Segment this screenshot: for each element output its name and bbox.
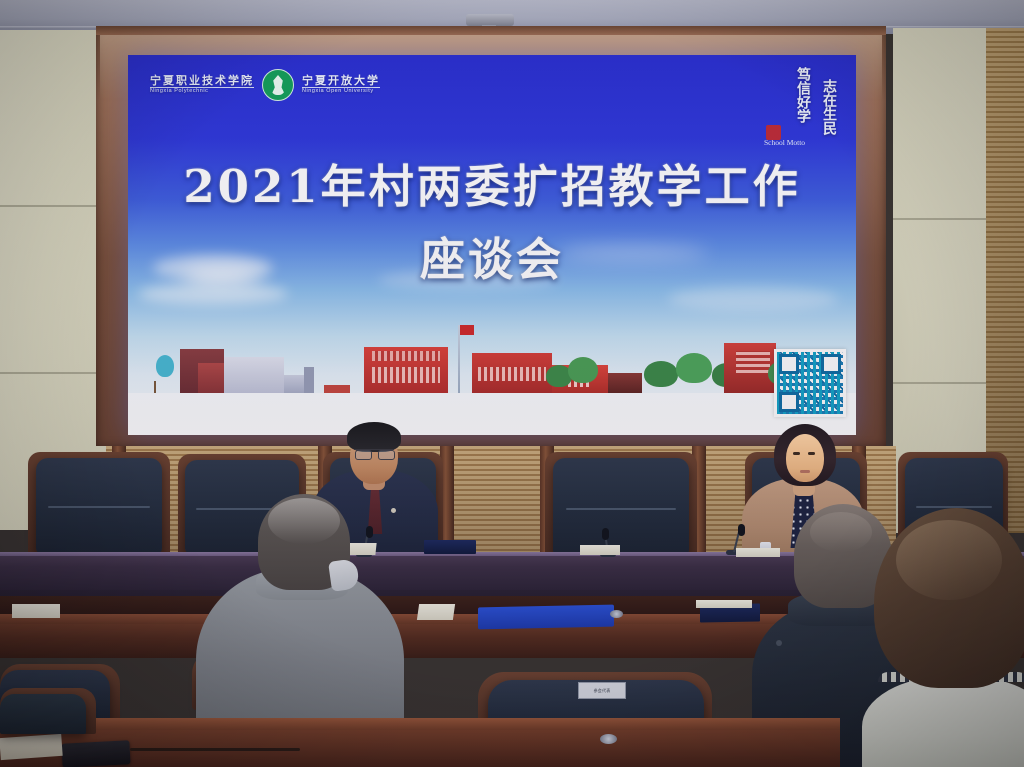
document-paper[interactable]: [12, 604, 60, 618]
table-mic-socket: [610, 610, 623, 618]
jacket-button: [776, 640, 782, 646]
chair-foreground-left[interactable]: [0, 694, 86, 734]
tower: [304, 367, 314, 393]
slide-title-line-1: 2021年村两委扩招教学工作: [128, 150, 856, 215]
attendee-left-hair-highlight: [268, 498, 340, 544]
document-paper[interactable]: [696, 600, 752, 608]
chair-nameplate-text: 参会代表: [594, 688, 611, 694]
eye-right: [808, 452, 815, 455]
logo-polytechnic-en: Ningxia Polytechnic: [150, 87, 254, 95]
projection-screen[interactable]: 宁夏职业技术学院 Ningxia Polytechnic 宁夏开放大学 Ning…: [128, 55, 856, 435]
notebook[interactable]: [424, 540, 476, 554]
mobile-phone[interactable]: [61, 740, 130, 767]
chair-seam: [566, 508, 676, 510]
microphone-head-icon: [366, 526, 373, 538]
microphone-head-icon: [738, 524, 745, 536]
slide-logo-group: 宁夏职业技术学院 Ningxia Polytechnic 宁夏开放大学 Ning…: [150, 69, 380, 101]
building-white: [224, 357, 284, 393]
tree: [644, 361, 678, 387]
document-paper[interactable]: [417, 604, 455, 620]
flagpole: [458, 325, 460, 393]
building-windows: [372, 351, 440, 361]
screen-frame-top-band: [96, 26, 886, 35]
national-flag: [460, 325, 474, 335]
illustration-ground: [128, 393, 856, 435]
building-windows: [736, 351, 770, 373]
eyeglasses-lens-right: [378, 450, 395, 460]
chair-seam: [48, 506, 150, 508]
qr-finder-icon: [821, 354, 841, 374]
wall-panel-seam: [893, 218, 990, 220]
building-windows: [478, 367, 546, 381]
motto-column-right: 笃信好学: [794, 67, 810, 123]
building-low-red: [324, 385, 350, 393]
campus-illustration: [128, 315, 856, 435]
logo-openuniv-en: Ningxia Open University: [302, 87, 380, 95]
logo-polytechnic-cn: 宁夏职业技术学院: [150, 75, 254, 87]
speaker-right-face: [786, 434, 824, 482]
tree: [676, 353, 712, 383]
logo-openuniv-cn: 宁夏开放大学: [302, 75, 380, 87]
microphone-head-icon: [602, 528, 609, 540]
tree: [568, 357, 598, 383]
qr-code[interactable]: [774, 349, 846, 417]
building-windows: [372, 367, 440, 383]
wall-panel-seam: [893, 382, 990, 384]
motto-english-label: School Motto: [764, 139, 805, 147]
conference-room-photo: 宁夏职业技术学院 Ningxia Polytechnic 宁夏开放大学 Ning…: [0, 0, 1024, 767]
qr-finder-icon: [779, 354, 799, 374]
document-paper[interactable]: [0, 734, 63, 760]
qr-finder-icon: [779, 392, 799, 412]
chair-4[interactable]: [553, 458, 689, 556]
school-motto-block: 志在生民 笃信好学 School Motto: [764, 65, 840, 161]
attendee-right-bald-highlight: [810, 512, 872, 552]
logo-ningxia-open-university: 宁夏开放大学 Ningxia Open University: [302, 75, 380, 95]
motto-column-left: 志在生民: [820, 79, 836, 135]
eyeglasses-lens-left: [355, 450, 372, 460]
wall-panel-seam: [0, 372, 106, 374]
lapel-pin: [391, 508, 396, 513]
university-seal-icon: [262, 69, 294, 101]
speaker-left-hair: [347, 422, 401, 452]
tree-trunk: [154, 381, 156, 393]
building-dark-red: [608, 373, 642, 393]
table-mic-socket: [600, 734, 617, 744]
eye-left: [793, 452, 800, 455]
attendee-far-right-hair-highlight: [896, 520, 1002, 600]
mouth: [800, 470, 810, 473]
building-white: [284, 375, 306, 393]
wall-panel-seam: [0, 205, 106, 207]
logo-ningxia-polytechnic: 宁夏职业技术学院 Ningxia Polytechnic: [150, 75, 254, 95]
cable: [130, 748, 300, 751]
chair-nameplate: 参会代表: [578, 682, 626, 699]
document-paper[interactable]: [580, 545, 620, 555]
cloud: [668, 287, 838, 311]
document-paper[interactable]: [736, 548, 780, 557]
blue-document-folder[interactable]: [478, 605, 614, 630]
slide-title-line-2: 座谈会: [128, 223, 856, 288]
tree: [156, 355, 174, 377]
